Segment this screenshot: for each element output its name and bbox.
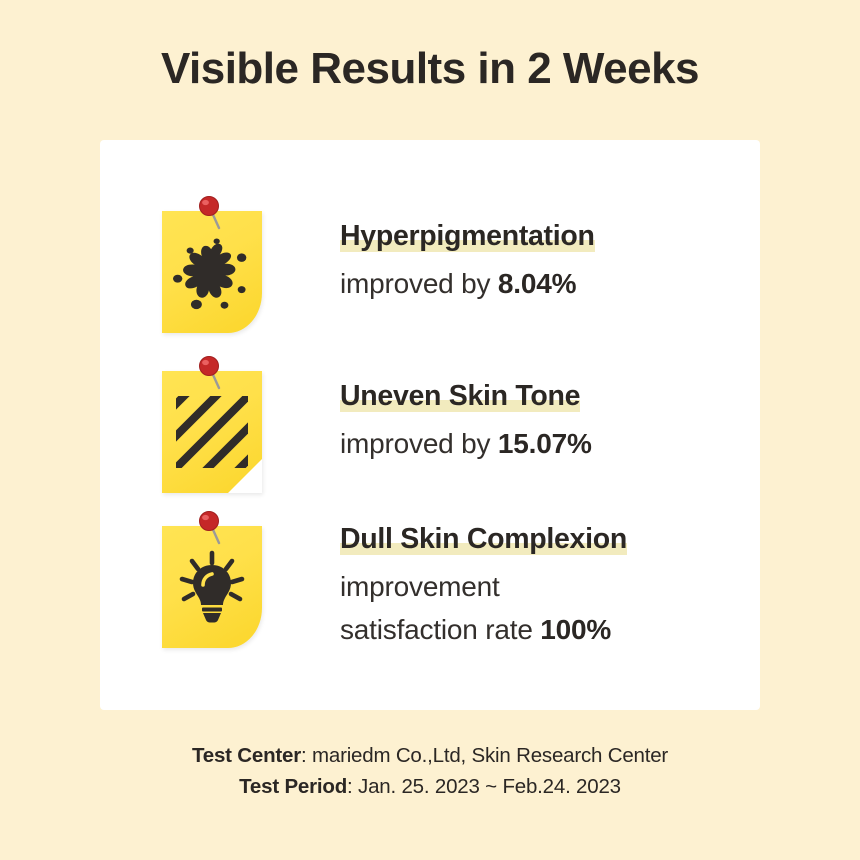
result-headline: Uneven Skin Tone <box>340 380 580 412</box>
result-headline-line: Dull Skin Complexion <box>340 520 760 564</box>
page-title: Visible Results in 2 Weeks <box>0 44 860 94</box>
result-text: Hyperpigmentation improved by 8.04% <box>340 195 760 304</box>
result-detail: improved by 15.07% <box>340 424 760 464</box>
sticky-note <box>162 195 322 340</box>
result-headline-line: Uneven Skin Tone <box>340 377 760 421</box>
result-measure-label: improved by <box>340 428 490 459</box>
result-value: 15.07% <box>498 428 592 459</box>
result-headline: Dull Skin Complexion <box>340 523 627 555</box>
note-paper <box>162 371 262 493</box>
result-measure-label: satisfaction rate <box>340 614 533 645</box>
results-card: Hyperpigmentation improved by 8.04% <box>100 140 760 710</box>
note-paper <box>162 211 262 333</box>
result-detail-line-1: improvement <box>340 567 760 607</box>
lightbulb-icon <box>176 549 248 625</box>
page-fold-corner-icon <box>228 459 262 493</box>
test-period-value: : Jan. 25. 2023 ~ Feb.24. 2023 <box>347 775 621 798</box>
test-center-label: Test Center <box>192 744 301 767</box>
result-headline-line: Hyperpigmentation <box>340 217 760 261</box>
footer: Test Center: mariedm Co.,Ltd, Skin Resea… <box>0 740 860 802</box>
note-paper <box>162 526 262 648</box>
result-measure-label: improved by <box>340 268 490 299</box>
test-period-line: Test Period: Jan. 25. 2023 ~ Feb.24. 202… <box>0 771 860 802</box>
infographic-page: Visible Results in 2 Weeks <box>0 0 860 860</box>
result-row: Hyperpigmentation improved by 8.04% <box>100 195 760 340</box>
result-row: Uneven Skin Tone improved by 15.07% <box>100 355 760 500</box>
result-detail: improved by 8.04% <box>340 264 760 304</box>
result-row: Dull Skin Complexion improvement satisfa… <box>100 510 760 655</box>
sticky-note <box>162 510 322 655</box>
test-center-value: : mariedm Co.,Ltd, Skin Research Center <box>301 744 668 767</box>
sticky-note <box>162 355 322 500</box>
result-text: Dull Skin Complexion improvement satisfa… <box>340 510 760 650</box>
test-center-line: Test Center: mariedm Co.,Ltd, Skin Resea… <box>0 740 860 771</box>
result-value: 8.04% <box>498 268 576 299</box>
result-detail-line-2: satisfaction rate 100% <box>340 610 760 650</box>
test-period-label: Test Period <box>239 775 347 798</box>
result-headline: Hyperpigmentation <box>340 220 595 252</box>
ink-splatter-icon <box>173 238 251 310</box>
result-text: Uneven Skin Tone improved by 15.07% <box>340 355 760 464</box>
diagonal-stripes-icon <box>176 396 248 468</box>
result-value: 100% <box>540 614 611 645</box>
